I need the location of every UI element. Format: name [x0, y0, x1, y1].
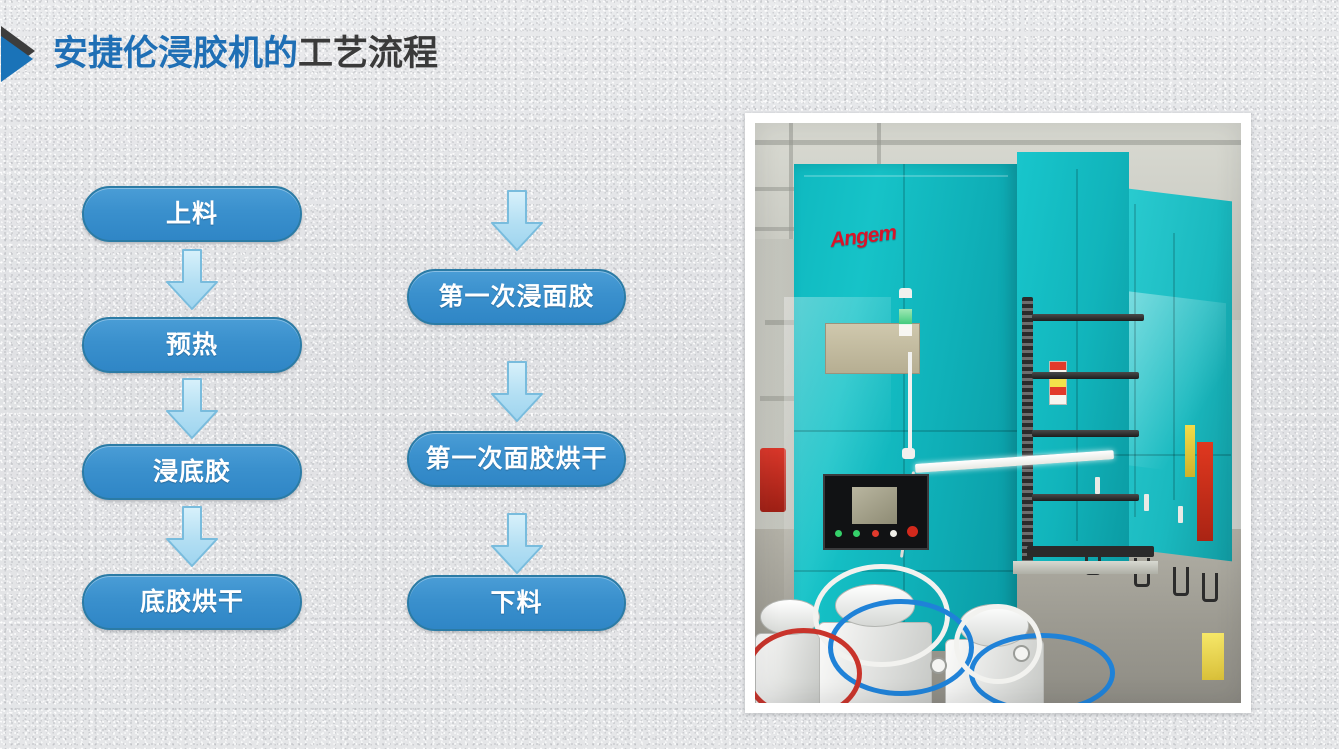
photo-conveyor-rung — [1032, 314, 1144, 321]
slide-canvas: 安捷伦浸胶机的工艺流程 上料 预热 — [0, 0, 1339, 749]
photo-red-equipment — [760, 448, 786, 512]
flow-node-label: 上料 — [166, 202, 218, 227]
flow-node-yure[interactable]: 预热 — [82, 317, 302, 373]
photo-panel-seam — [794, 430, 1018, 432]
photo-machine-ledge — [1013, 561, 1159, 574]
arrow-down-icon — [489, 512, 545, 576]
photo-beacon-white-lamp — [899, 324, 912, 336]
flow-node-label: 预热 — [166, 333, 218, 358]
flow-node-diyici-jinmianjiao[interactable]: 第一次浸面胶 — [407, 269, 626, 325]
arrow-down-icon — [164, 505, 220, 569]
photo-panel-button-green — [835, 530, 842, 537]
photo-pressure-gauge — [930, 657, 947, 674]
photo-pressure-gauge — [1013, 645, 1030, 662]
photo-beacon-cap — [899, 288, 912, 298]
photo-conveyor-rung — [1032, 430, 1139, 437]
photo-panel-button-white — [890, 530, 897, 537]
flow-node-diyici-mianjiao-honggan[interactable]: 第一次面胶烘干 — [407, 431, 626, 487]
arrow-down-icon — [489, 360, 545, 424]
photo-control-panel — [823, 474, 929, 551]
photo-conveyor-tray — [1027, 546, 1153, 557]
photo-panel-seam — [804, 175, 1008, 177]
photo-emergency-stop-button — [907, 526, 918, 537]
photo-beacon-joint — [902, 448, 915, 459]
photo-door-handle — [1144, 494, 1149, 511]
photo-warning-sticker — [1049, 361, 1067, 405]
flow-node-label: 浸底胶 — [153, 460, 231, 485]
photo-white-pipe — [954, 604, 1042, 684]
flow-node-dijiaohonggan[interactable]: 底胶烘干 — [82, 574, 302, 630]
flow-node-label: 第一次面胶烘干 — [425, 447, 607, 472]
photo-panel-button-red — [872, 530, 879, 537]
arrow-down-icon — [489, 189, 545, 253]
photo-panel-seam — [1173, 233, 1175, 500]
flow-node-xialiao[interactable]: 下料 — [407, 575, 626, 631]
arrow-down-icon — [164, 377, 220, 441]
photo-panel-button-green — [853, 530, 860, 537]
flow-node-label: 第一次浸面胶 — [438, 285, 594, 310]
photo-latch-icon — [1202, 573, 1218, 602]
process-flow-diagram: 上料 预热 — [0, 0, 700, 749]
photo-panel-seam — [1134, 204, 1136, 517]
photo-panel-seam — [1076, 169, 1078, 540]
flow-node-shangliao[interactable]: 上料 — [82, 186, 302, 242]
photo-conveyor-rung — [1032, 372, 1139, 379]
arrow-down-icon — [164, 248, 220, 312]
photo-machine-right-section — [1017, 152, 1129, 570]
photo-hmi-screen — [852, 487, 898, 523]
flow-node-label: 底胶烘干 — [140, 590, 244, 615]
photo-door-handle — [1178, 506, 1183, 523]
photo-beacon-green-lamp — [899, 309, 912, 325]
flow-node-jindijiao[interactable]: 浸底胶 — [82, 444, 302, 500]
photo-yellow-post — [1185, 425, 1195, 477]
photo-door-handle — [1095, 477, 1100, 494]
photo-beacon-pole — [908, 352, 912, 451]
flow-node-label: 下料 — [490, 591, 542, 616]
photo-yellow-box — [1202, 633, 1224, 679]
photo-beam — [755, 140, 1241, 145]
photo-red-cabinet — [1197, 442, 1213, 541]
photo-conveyor-rung — [1032, 494, 1139, 501]
equipment-photo: Angem — [755, 123, 1241, 703]
photo-latch-icon — [1173, 567, 1189, 596]
photo-beam — [789, 123, 793, 251]
equipment-photo-frame: Angem — [745, 113, 1251, 713]
